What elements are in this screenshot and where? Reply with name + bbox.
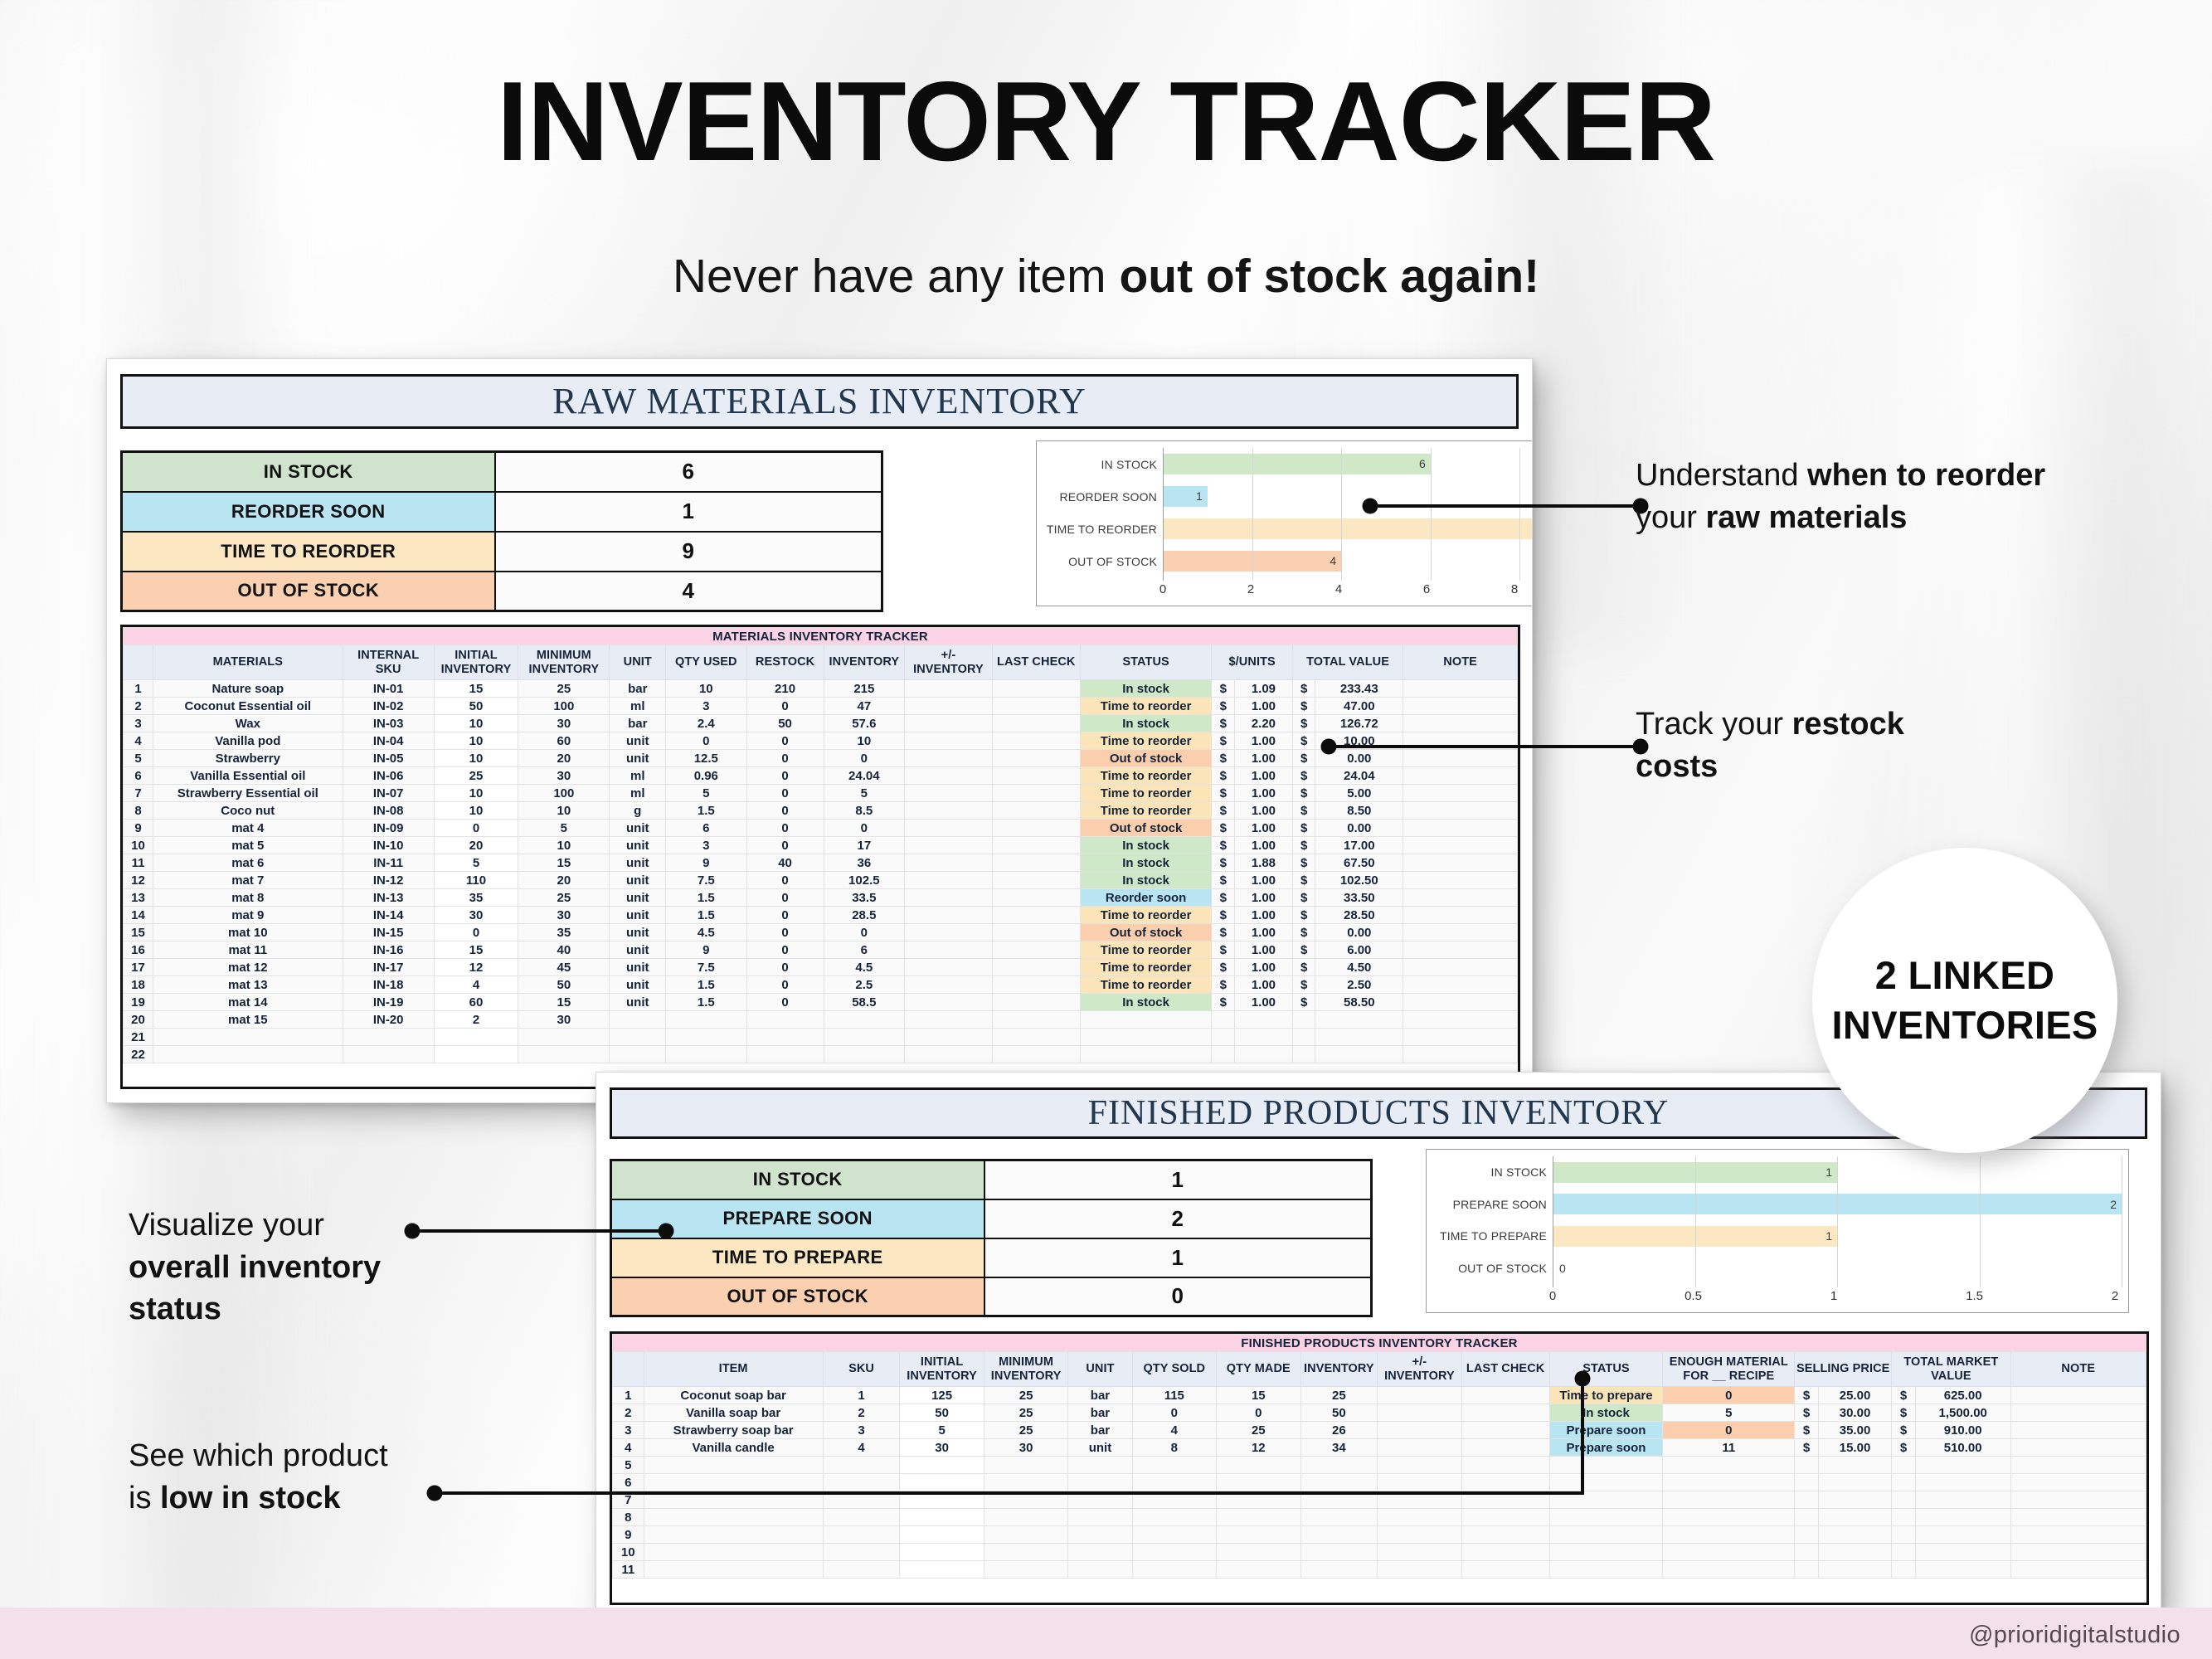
- status-badge: Time to prepare: [1549, 1387, 1663, 1404]
- chart-bar-value: 2: [2110, 1198, 2117, 1211]
- cell-minimum-inventory: 25: [984, 1422, 1067, 1439]
- cell-total-market-value: [1915, 1544, 2010, 1561]
- cell-inventory: [1300, 1491, 1378, 1509]
- cell-last-check: [992, 820, 1080, 837]
- cell-total-value-symbol: $: [1292, 959, 1315, 976]
- cell-unit-price-symbol: $: [1212, 732, 1235, 750]
- cell-sku: IN-14: [343, 907, 434, 924]
- chart-bar: 1: [1163, 486, 1208, 507]
- table-row[interactable]: 7Strawberry Essential oilIN-0710100ml505…: [124, 785, 1518, 802]
- cell-sku: IN-11: [343, 854, 434, 872]
- table-row[interactable]: 1Nature soapIN-011525bar10210215In stock…: [124, 680, 1518, 698]
- cell-item: [644, 1561, 823, 1579]
- row-number: 8: [124, 802, 153, 820]
- col-header-minimum-inventory: MINIMUMINVENTORY: [984, 1352, 1067, 1387]
- cell-qty-made: [1217, 1457, 1300, 1474]
- table-row[interactable]: 4Vanilla candle43030unit81234Prepare soo…: [613, 1439, 2146, 1457]
- cell-market-value-symbol: [1892, 1561, 1916, 1579]
- cell-last-check: [1461, 1387, 1549, 1404]
- cell-material: mat 8: [153, 889, 343, 907]
- cell-qty-made: 12: [1217, 1439, 1300, 1457]
- cell-sku: IN-13: [343, 889, 434, 907]
- cell-total-market-value: 1,500.00: [1915, 1404, 2010, 1422]
- summary-value-out-of-stock: 4: [495, 572, 882, 611]
- col-rownum: [124, 645, 153, 680]
- cell-item: [644, 1457, 823, 1474]
- cell-initial-inventory: 25: [434, 767, 518, 785]
- cell-unit-price-symbol: $: [1212, 994, 1235, 1011]
- badge-line2: INVENTORIES: [1831, 1000, 2098, 1050]
- table-row[interactable]: 18mat 13IN-18450unit1.502.5Time to reord…: [124, 976, 1518, 994]
- cell-sku: [823, 1561, 900, 1579]
- cell-restock: 0: [746, 767, 824, 785]
- cell-total-market-value: [1915, 1457, 2010, 1474]
- cell-last-check: [992, 889, 1080, 907]
- row-number: 3: [124, 715, 153, 732]
- row-number: 17: [124, 959, 153, 976]
- cell-material: mat 14: [153, 994, 343, 1011]
- callout-restock: Track your restock costs: [1636, 703, 2133, 787]
- cell-qty-used: [666, 1029, 746, 1046]
- table-row[interactable]: 10mat 5IN-102010unit3017In stock$1.00$17…: [124, 837, 1518, 854]
- status-badge: Out of stock: [1080, 924, 1212, 941]
- cell-plus-minus-inventory: [905, 785, 993, 802]
- table-row[interactable]: 20mat 15IN-20230: [124, 1011, 1518, 1029]
- cell-minimum-inventory: 20: [518, 750, 610, 767]
- table-row[interactable]: 11: [613, 1561, 2146, 1579]
- cell-qty-sold: 0: [1132, 1404, 1216, 1422]
- cell-minimum-inventory: 15: [518, 854, 610, 872]
- cell-note: [1403, 698, 1518, 715]
- cell-qty-made: [1217, 1509, 1300, 1526]
- chart-x-tick: 8: [1511, 582, 1518, 596]
- cell-restock: 0: [746, 994, 824, 1011]
- chart-x-tick: 6: [1423, 582, 1430, 596]
- cell-sku: 1: [823, 1387, 900, 1404]
- cell-selling-price-symbol: $: [1795, 1422, 1819, 1439]
- status-badge: Time to reorder: [1080, 976, 1212, 994]
- table-row[interactable]: 12mat 7IN-1211020unit7.50102.5In stock$1…: [124, 872, 1518, 889]
- cell-initial-inventory: 35: [434, 889, 518, 907]
- cell-restock: 0: [746, 837, 824, 854]
- cell-enough-material: [1663, 1509, 1795, 1526]
- cell-selling-price-symbol: [1795, 1491, 1819, 1509]
- row-number: 7: [124, 785, 153, 802]
- cell-selling-price: [1818, 1491, 1891, 1509]
- cell-minimum-inventory: 10: [518, 837, 610, 854]
- cell-unit: unit: [610, 976, 666, 994]
- cell-enough-material: 0: [1663, 1387, 1795, 1404]
- cell-total-value: 102.50: [1315, 872, 1403, 889]
- cell-unit-price-symbol: $: [1212, 924, 1235, 941]
- table-row[interactable]: 14mat 9IN-143030unit1.5028.5Time to reor…: [124, 907, 1518, 924]
- callout-visualize-plain1: Visualize your: [129, 1208, 324, 1243]
- status-badge: [1549, 1526, 1663, 1544]
- cell-sku: IN-08: [343, 802, 434, 820]
- cell-note: [1403, 1046, 1518, 1063]
- row-number: 5: [613, 1457, 644, 1474]
- fin-summary-row-in-stock[interactable]: IN STOCK 1: [611, 1160, 1372, 1199]
- cell-unit: [1068, 1561, 1132, 1579]
- cell-unit-price-symbol: $: [1212, 837, 1235, 854]
- cell-inventory: [1300, 1509, 1378, 1526]
- summary-value-time-to-reorder: 9: [495, 532, 882, 572]
- cell-qty-used: 1.5: [666, 907, 746, 924]
- cell-material: mat 10: [153, 924, 343, 941]
- cell-restock: 0: [746, 802, 824, 820]
- cell-unit: unit: [610, 820, 666, 837]
- cell-total-value: 10.00: [1315, 732, 1403, 750]
- status-badge: Out of stock: [1080, 750, 1212, 767]
- cell-minimum-inventory: 30: [984, 1439, 1067, 1457]
- cell-minimum-inventory: 25: [518, 680, 610, 698]
- cell-last-check: [992, 959, 1080, 976]
- status-badge: In stock: [1080, 680, 1212, 698]
- cell-unit: bar: [610, 715, 666, 732]
- cell-initial-inventory: 30: [434, 907, 518, 924]
- cell-unit: [1068, 1491, 1132, 1509]
- fin-summary-row-time-to-prepare[interactable]: TIME TO PREPARE 1: [611, 1238, 1372, 1277]
- table-row[interactable]: 5: [613, 1457, 2146, 1474]
- cell-qty-used: 1.5: [666, 802, 746, 820]
- row-number: 16: [124, 941, 153, 959]
- cell-initial-inventory: [900, 1491, 984, 1509]
- cell-item: Coconut soap bar: [644, 1387, 823, 1404]
- cell-restock: 0: [746, 924, 824, 941]
- table-row[interactable]: 13mat 8IN-133525unit1.5033.5Reorder soon…: [124, 889, 1518, 907]
- cell-inventory: 24.04: [824, 767, 904, 785]
- cell-qty-used: [666, 1011, 746, 1029]
- cell-material: Coco nut: [153, 802, 343, 820]
- status-badge: Time to reorder: [1080, 907, 1212, 924]
- cell-selling-price: 25.00: [1818, 1387, 1891, 1404]
- cell-unit-price: 1.00: [1235, 941, 1293, 959]
- col-header-selling-price: SELLING PRICE: [1795, 1352, 1892, 1387]
- table-row[interactable]: 6: [613, 1474, 2146, 1491]
- cell-unit-price: 1.00: [1235, 994, 1293, 1011]
- col-header-last-check: LAST CHECK: [1461, 1352, 1549, 1387]
- cell-market-value-symbol: [1892, 1491, 1916, 1509]
- col-header-last-check: LAST CHECK: [992, 645, 1080, 680]
- cell-restock: 0: [746, 959, 824, 976]
- cell-unit-price: 1.00: [1235, 872, 1293, 889]
- table-row[interactable]: 19mat 14IN-196015unit1.5058.5In stock$1.…: [124, 994, 1518, 1011]
- table-row[interactable]: 6Vanilla Essential oilIN-062530ml0.96024…: [124, 767, 1518, 785]
- cell-unit: unit: [610, 854, 666, 872]
- table-row[interactable]: 8: [613, 1509, 2146, 1526]
- table-row[interactable]: 9: [613, 1526, 2146, 1544]
- cell-minimum-inventory: [984, 1509, 1067, 1526]
- chart-bar-value: 6: [1419, 457, 1426, 470]
- fin-summary-value-out-of-stock: 0: [984, 1277, 1372, 1316]
- cell-minimum-inventory: 15: [518, 994, 610, 1011]
- row-number: 11: [124, 854, 153, 872]
- cell-inventory: 0: [824, 820, 904, 837]
- row-number: 9: [613, 1526, 644, 1544]
- cell-total-value-symbol: $: [1292, 750, 1315, 767]
- chart-bar-value: 4: [1330, 554, 1336, 567]
- col-header-sku: SKU: [823, 1352, 900, 1387]
- table-row[interactable]: 11mat 6IN-11515unit94036In stock$1.88$67…: [124, 854, 1518, 872]
- cell-unit: unit: [1068, 1439, 1132, 1457]
- table-row[interactable]: 1Coconut soap bar112525bar1151525Time to…: [613, 1387, 2146, 1404]
- row-number: 2: [124, 698, 153, 715]
- cell-note: [2010, 1422, 2146, 1439]
- cell-unit-price-symbol: $: [1212, 802, 1235, 820]
- cell-restock: 0: [746, 976, 824, 994]
- cell-total-value-symbol: [1292, 1029, 1315, 1046]
- cell-sku: IN-05: [343, 750, 434, 767]
- cell-note: [1403, 680, 1518, 698]
- cell-plus-minus-inventory: [905, 924, 993, 941]
- table-row[interactable]: 15mat 10IN-15035unit4.500Out of stock$1.…: [124, 924, 1518, 941]
- callout-reorder-bold1: when to reorder: [1807, 458, 2045, 493]
- table-row[interactable]: 22: [124, 1046, 1518, 1063]
- cell-initial-inventory: 15: [434, 680, 518, 698]
- cell-unit: unit: [610, 872, 666, 889]
- row-number: 10: [124, 837, 153, 854]
- materials-inventory-sheet[interactable]: MATERIALS INVENTORY TRACKERMATERIALSINTE…: [120, 625, 1520, 1089]
- subtitle-plain: Never have any item: [673, 250, 1120, 303]
- fin-summary-row-prepare-soon[interactable]: PREPARE SOON 2: [611, 1199, 1372, 1238]
- cell-initial-inventory: 4: [434, 976, 518, 994]
- cell-market-value-symbol: [1892, 1526, 1916, 1544]
- table-row[interactable]: 8Coco nutIN-081010g1.508.5Time to reorde…: [124, 802, 1518, 820]
- status-badge: [1549, 1457, 1663, 1474]
- fin-summary-label-time-to-prepare: TIME TO PREPARE: [611, 1238, 984, 1277]
- cell-selling-price-symbol: [1795, 1544, 1819, 1561]
- cell-last-check: [992, 680, 1080, 698]
- cell-minimum-inventory: [984, 1526, 1067, 1544]
- cell-sku: [823, 1526, 900, 1544]
- cell-item: Strawberry soap bar: [644, 1422, 823, 1439]
- cell-inventory: 0: [824, 924, 904, 941]
- cell-unit-price: 1.00: [1235, 924, 1293, 941]
- chart-x-tick: 2: [2112, 1289, 2118, 1303]
- cell-initial-inventory: [434, 1046, 518, 1063]
- cell-item: [644, 1544, 823, 1561]
- cell-total-market-value: [1915, 1474, 2010, 1491]
- cell-total-value-symbol: $: [1292, 976, 1315, 994]
- cell-last-check: [992, 698, 1080, 715]
- cell-inventory: 17: [824, 837, 904, 854]
- cell-unit-price-symbol: [1212, 1046, 1235, 1063]
- cell-inventory: [1300, 1474, 1378, 1491]
- cell-initial-inventory: 0: [434, 924, 518, 941]
- cell-inventory: [824, 1011, 904, 1029]
- table-row[interactable]: 3WaxIN-031030bar2.45057.6In stock$2.20$1…: [124, 715, 1518, 732]
- cell-unit-price: 1.00: [1235, 837, 1293, 854]
- cell-unit-price: 1.00: [1235, 976, 1293, 994]
- cell-material: mat 4: [153, 820, 343, 837]
- cell-unit-price-symbol: [1212, 1029, 1235, 1046]
- cell-last-check: [992, 994, 1080, 1011]
- cell-total-value: 233.43: [1315, 680, 1403, 698]
- cell-note: [1403, 802, 1518, 820]
- cell-unit: [610, 1029, 666, 1046]
- cell-total-value: 47.00: [1315, 698, 1403, 715]
- materials-sheet-banner: MATERIALS INVENTORY TRACKER: [124, 628, 1518, 645]
- cell-total-value-symbol: $: [1292, 941, 1315, 959]
- cell-total-value: 58.50: [1315, 994, 1403, 1011]
- cell-total-market-value: [1915, 1526, 2010, 1544]
- cell-minimum-inventory: 5: [518, 820, 610, 837]
- cell-initial-inventory: 10: [434, 732, 518, 750]
- cell-initial-inventory: 5: [434, 854, 518, 872]
- cell-restock: 0: [746, 820, 824, 837]
- row-number: 7: [613, 1491, 644, 1509]
- cell-plus-minus-inventory: [905, 872, 993, 889]
- callout-reorder-plain1: Understand: [1636, 458, 1807, 493]
- cell-initial-inventory: [900, 1474, 984, 1491]
- fin-summary-value-prepare-soon: 2: [984, 1199, 1372, 1238]
- sheet-header-row: MATERIALSINTERNALSKUINITIALINVENTORYMINI…: [124, 645, 1518, 680]
- chart-bar: 1: [1553, 1226, 1837, 1247]
- cell-minimum-inventory: 50: [518, 976, 610, 994]
- summary-row-reorder-soon[interactable]: REORDER SOON 1: [122, 492, 882, 532]
- cell-qty-sold: [1132, 1491, 1216, 1509]
- cell-total-market-value: [1915, 1509, 2010, 1526]
- cell-qty-used: 7.5: [666, 959, 746, 976]
- row-number: 13: [124, 889, 153, 907]
- cell-enough-material: 0: [1663, 1422, 1795, 1439]
- table-row[interactable]: 5StrawberryIN-051020unit12.500Out of sto…: [124, 750, 1518, 767]
- cell-note: [1403, 889, 1518, 907]
- table-row[interactable]: 21: [124, 1029, 1518, 1046]
- cell-unit: unit: [610, 889, 666, 907]
- cell-qty-made: [1217, 1544, 1300, 1561]
- cell-sku: [823, 1457, 900, 1474]
- cell-total-value: 0.00: [1315, 924, 1403, 941]
- cell-inventory: [1300, 1544, 1378, 1561]
- cell-qty-sold: [1132, 1509, 1216, 1526]
- callout-reorder-plain2: your: [1636, 500, 1705, 535]
- status-badge: Reorder soon: [1080, 889, 1212, 907]
- cell-minimum-inventory: [518, 1029, 610, 1046]
- cell-initial-inventory: 5: [900, 1422, 984, 1439]
- finished-products-inventory-sheet[interactable]: FINISHED PRODUCTS INVENTORY TRACKERITEMS…: [610, 1331, 2149, 1605]
- cell-total-value: 8.50: [1315, 802, 1403, 820]
- table-row[interactable]: 2Coconut Essential oilIN-0250100ml3047Ti…: [124, 698, 1518, 715]
- cell-unit-price: 1.00: [1235, 907, 1293, 924]
- cell-total-value-symbol: $: [1292, 854, 1315, 872]
- col-header-unit-price: $/UNITS: [1212, 645, 1292, 680]
- table-row[interactable]: 16mat 11IN-161540unit906Time to reorder$…: [124, 941, 1518, 959]
- cell-item: [644, 1526, 823, 1544]
- status-badge: Time to reorder: [1080, 785, 1212, 802]
- status-badge: In stock: [1080, 872, 1212, 889]
- cell-restock: 40: [746, 854, 824, 872]
- cell-initial-inventory: [900, 1526, 984, 1544]
- cell-sku: [823, 1474, 900, 1491]
- row-number: 5: [124, 750, 153, 767]
- cell-last-check: [992, 872, 1080, 889]
- chart-bar: 1: [1553, 1162, 1837, 1183]
- cell-qty-sold: 8: [1132, 1439, 1216, 1457]
- cell-minimum-inventory: 30: [518, 767, 610, 785]
- cell-unit: unit: [610, 941, 666, 959]
- cell-total-value-symbol: $: [1292, 802, 1315, 820]
- cell-unit: [1068, 1544, 1132, 1561]
- cell-last-check: [992, 732, 1080, 750]
- summary-row-in-stock[interactable]: IN STOCK 6: [122, 452, 882, 492]
- cell-selling-price: [1818, 1526, 1891, 1544]
- status-badge: Time to reorder: [1080, 732, 1212, 750]
- sheet-banner-row: FINISHED PRODUCTS INVENTORY TRACKER: [613, 1335, 2146, 1352]
- chart-x-tick: 2: [1247, 582, 1254, 596]
- cell-unit: [1068, 1457, 1132, 1474]
- status-badge: In stock: [1080, 715, 1212, 732]
- col-header-unit: UNIT: [1068, 1352, 1132, 1387]
- cell-sku: [823, 1544, 900, 1561]
- cell-initial-inventory: 15: [434, 941, 518, 959]
- cell-last-check: [992, 837, 1080, 854]
- row-number: 1: [124, 680, 153, 698]
- cell-note: [1403, 837, 1518, 854]
- cell-total-value-symbol: [1292, 1011, 1315, 1029]
- cell-sku: IN-20: [343, 1011, 434, 1029]
- table-row[interactable]: 9mat 4IN-0905unit600Out of stock$1.00$0.…: [124, 820, 1518, 837]
- cell-total-value: 2.50: [1315, 976, 1403, 994]
- chart-bar: 2: [1553, 1194, 2122, 1214]
- cell-minimum-inventory: 60: [518, 732, 610, 750]
- cell-qty-sold: [1132, 1561, 1216, 1579]
- summary-label-out-of-stock: OUT OF STOCK: [122, 572, 495, 611]
- cell-total-value: [1315, 1029, 1403, 1046]
- summary-row-time-to-reorder[interactable]: TIME TO REORDER 9: [122, 532, 882, 572]
- table-row[interactable]: 10: [613, 1544, 2146, 1561]
- table-row[interactable]: 2Vanilla soap bar25025bar0050In stock5$3…: [613, 1404, 2146, 1422]
- cell-note: [2010, 1474, 2146, 1491]
- cell-plus-minus-inventory: [1378, 1474, 1461, 1491]
- cell-note: [2010, 1561, 2146, 1579]
- cell-unit-price-symbol: $: [1212, 889, 1235, 907]
- cell-unit: ml: [610, 785, 666, 802]
- table-row[interactable]: 4Vanilla podIN-041060unit0010Time to reo…: [124, 732, 1518, 750]
- row-number: 20: [124, 1011, 153, 1029]
- products-sheet-banner: FINISHED PRODUCTS INVENTORY TRACKER: [613, 1335, 2146, 1352]
- cell-minimum-inventory: [984, 1474, 1067, 1491]
- chart-category-label: TIME TO REORDER: [1037, 523, 1163, 536]
- cell-plus-minus-inventory: [905, 889, 993, 907]
- summary-row-out-of-stock[interactable]: OUT OF STOCK 4: [122, 572, 882, 611]
- chart-bar: 9: [1163, 518, 1533, 539]
- table-row[interactable]: 3Strawberry soap bar3525bar42526Prepare …: [613, 1422, 2146, 1439]
- cell-initial-inventory: 10: [434, 750, 518, 767]
- chart-bar-value: 1: [1826, 1165, 1832, 1179]
- cell-plus-minus-inventory: [905, 1029, 993, 1046]
- table-row[interactable]: 7: [613, 1491, 2146, 1509]
- cell-last-check: [1461, 1474, 1549, 1491]
- status-badge: [1549, 1561, 1663, 1579]
- callout-visualize: Visualize your overall inventory status: [129, 1204, 477, 1331]
- status-badge: [1080, 1046, 1212, 1063]
- chart-category-label: PREPARE SOON: [1427, 1198, 1553, 1211]
- cell-initial-inventory: 10: [434, 785, 518, 802]
- cell-inventory: 50: [1300, 1404, 1378, 1422]
- cell-plus-minus-inventory: [1378, 1526, 1461, 1544]
- cell-initial-inventory: 110: [434, 872, 518, 889]
- cell-item: [644, 1474, 823, 1491]
- page-title: INVENTORY TRACKER: [0, 65, 2212, 178]
- cell-inventory: 4.5: [824, 959, 904, 976]
- cell-unit: bar: [1068, 1387, 1132, 1404]
- fin-summary-row-out-of-stock[interactable]: OUT OF STOCK 0: [611, 1277, 1372, 1316]
- cell-total-market-value: [1915, 1561, 2010, 1579]
- cell-enough-material: [1663, 1544, 1795, 1561]
- cell-note: [1403, 750, 1518, 767]
- table-row[interactable]: 17mat 12IN-171245unit7.504.5Time to reor…: [124, 959, 1518, 976]
